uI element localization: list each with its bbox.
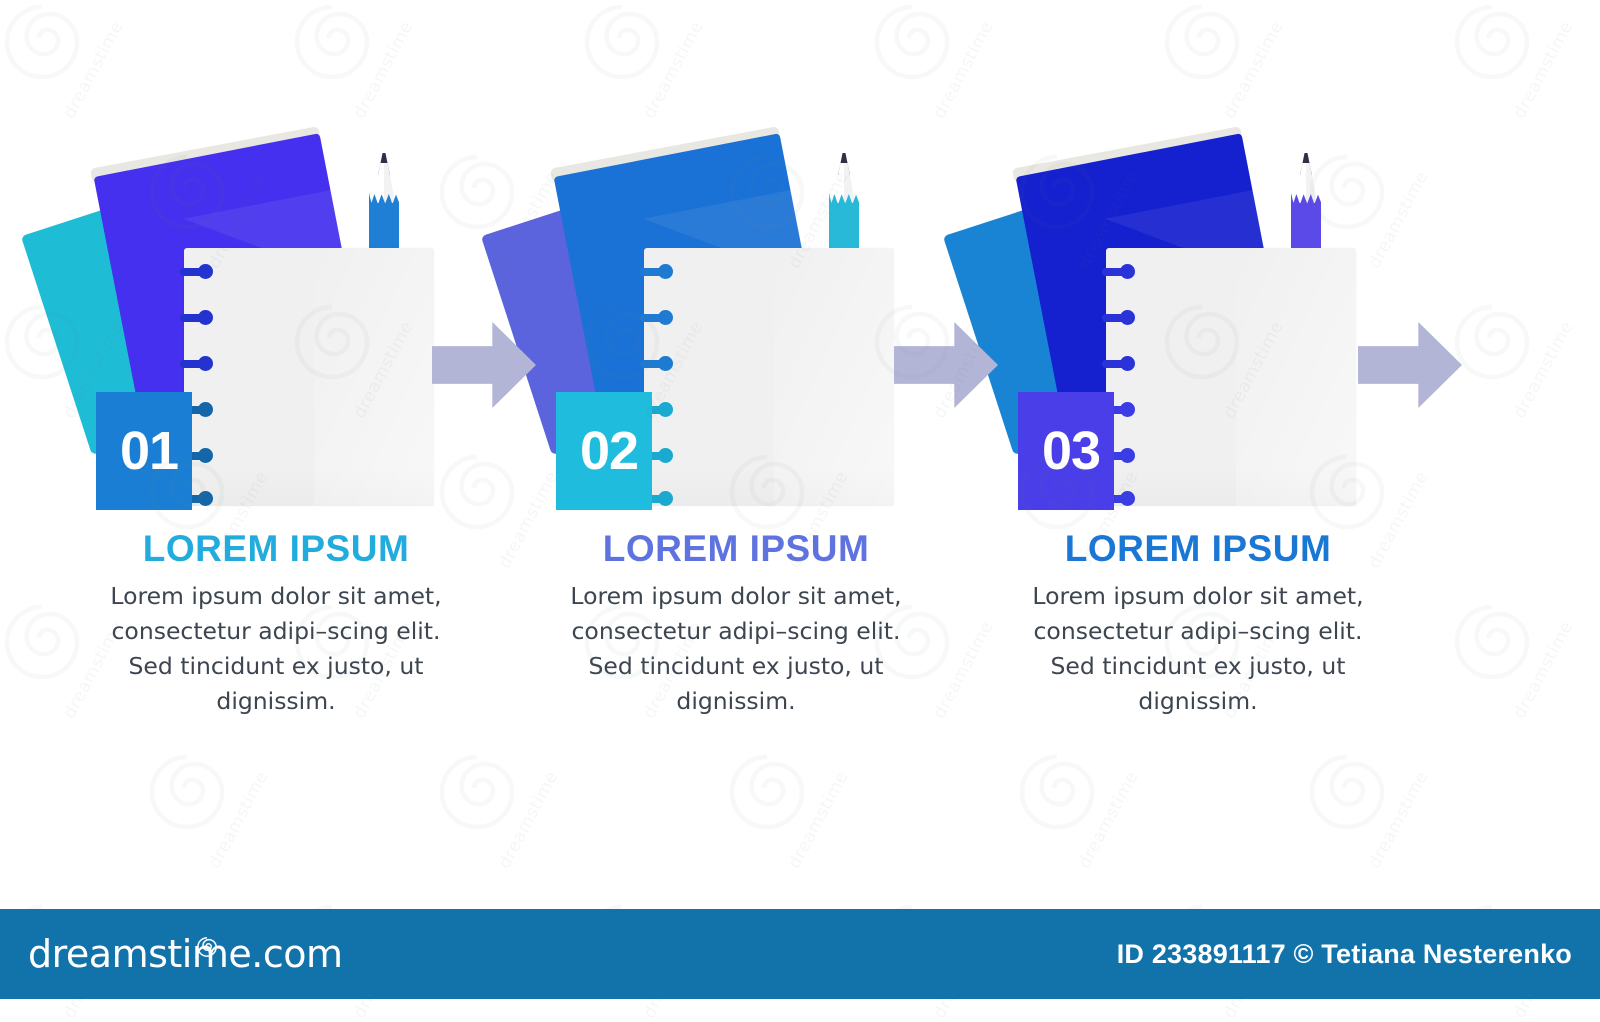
step-illustration-02: 02	[556, 150, 896, 510]
dreamstime-logo[interactable]: dreamstime.com	[28, 932, 342, 976]
step-body-01: Lorem ipsum dolor sit amet, consectetur …	[96, 579, 456, 719]
step-illustration-01: 01	[96, 150, 436, 510]
image-id-credit: ID 233891117 © Tetiana Nesterenko	[1117, 939, 1572, 970]
step-number-badge-01[interactable]: 01	[96, 392, 192, 510]
step-number-badge-03[interactable]: 03	[1018, 392, 1114, 510]
step-title-03: LOREM IPSUM	[1018, 530, 1378, 567]
dreamstime-logo-text: dreamstime.com	[28, 932, 342, 976]
step-caption-02: LOREM IPSUM Lorem ipsum dolor sit amet, …	[556, 530, 916, 719]
step-caption-01: LOREM IPSUM Lorem ipsum dolor sit amet, …	[96, 530, 456, 719]
spiral-mark-icon	[196, 923, 218, 945]
step-number-label: 02	[580, 424, 638, 478]
step-illustration-03: 03	[1018, 150, 1358, 510]
step-card-01[interactable]: 01 LOREM IPSUM Lorem ipsum dolor sit ame…	[96, 0, 566, 890]
step-title-02: LOREM IPSUM	[556, 530, 916, 567]
step-caption-03: LOREM IPSUM Lorem ipsum dolor sit amet, …	[1018, 530, 1378, 719]
step-card-03[interactable]: 03 LOREM IPSUM Lorem ipsum dolor sit ame…	[1018, 0, 1488, 890]
step-body-03: Lorem ipsum dolor sit amet, consectetur …	[1018, 579, 1378, 719]
step-body-02: Lorem ipsum dolor sit amet, consectetur …	[556, 579, 916, 719]
infographic-canvas: 01 LOREM IPSUM Lorem ipsum dolor sit ame…	[0, 0, 1600, 890]
dreamstime-footer-bar: dreamstime.com ID 233891117 © Tetiana Ne…	[0, 909, 1600, 999]
step-number-badge-02[interactable]: 02	[556, 392, 652, 510]
step-number-label: 03	[1042, 424, 1100, 478]
step-card-02[interactable]: 02 LOREM IPSUM Lorem ipsum dolor sit ame…	[556, 0, 1026, 890]
step-number-label: 01	[120, 424, 178, 478]
step-title-01: LOREM IPSUM	[96, 530, 456, 567]
